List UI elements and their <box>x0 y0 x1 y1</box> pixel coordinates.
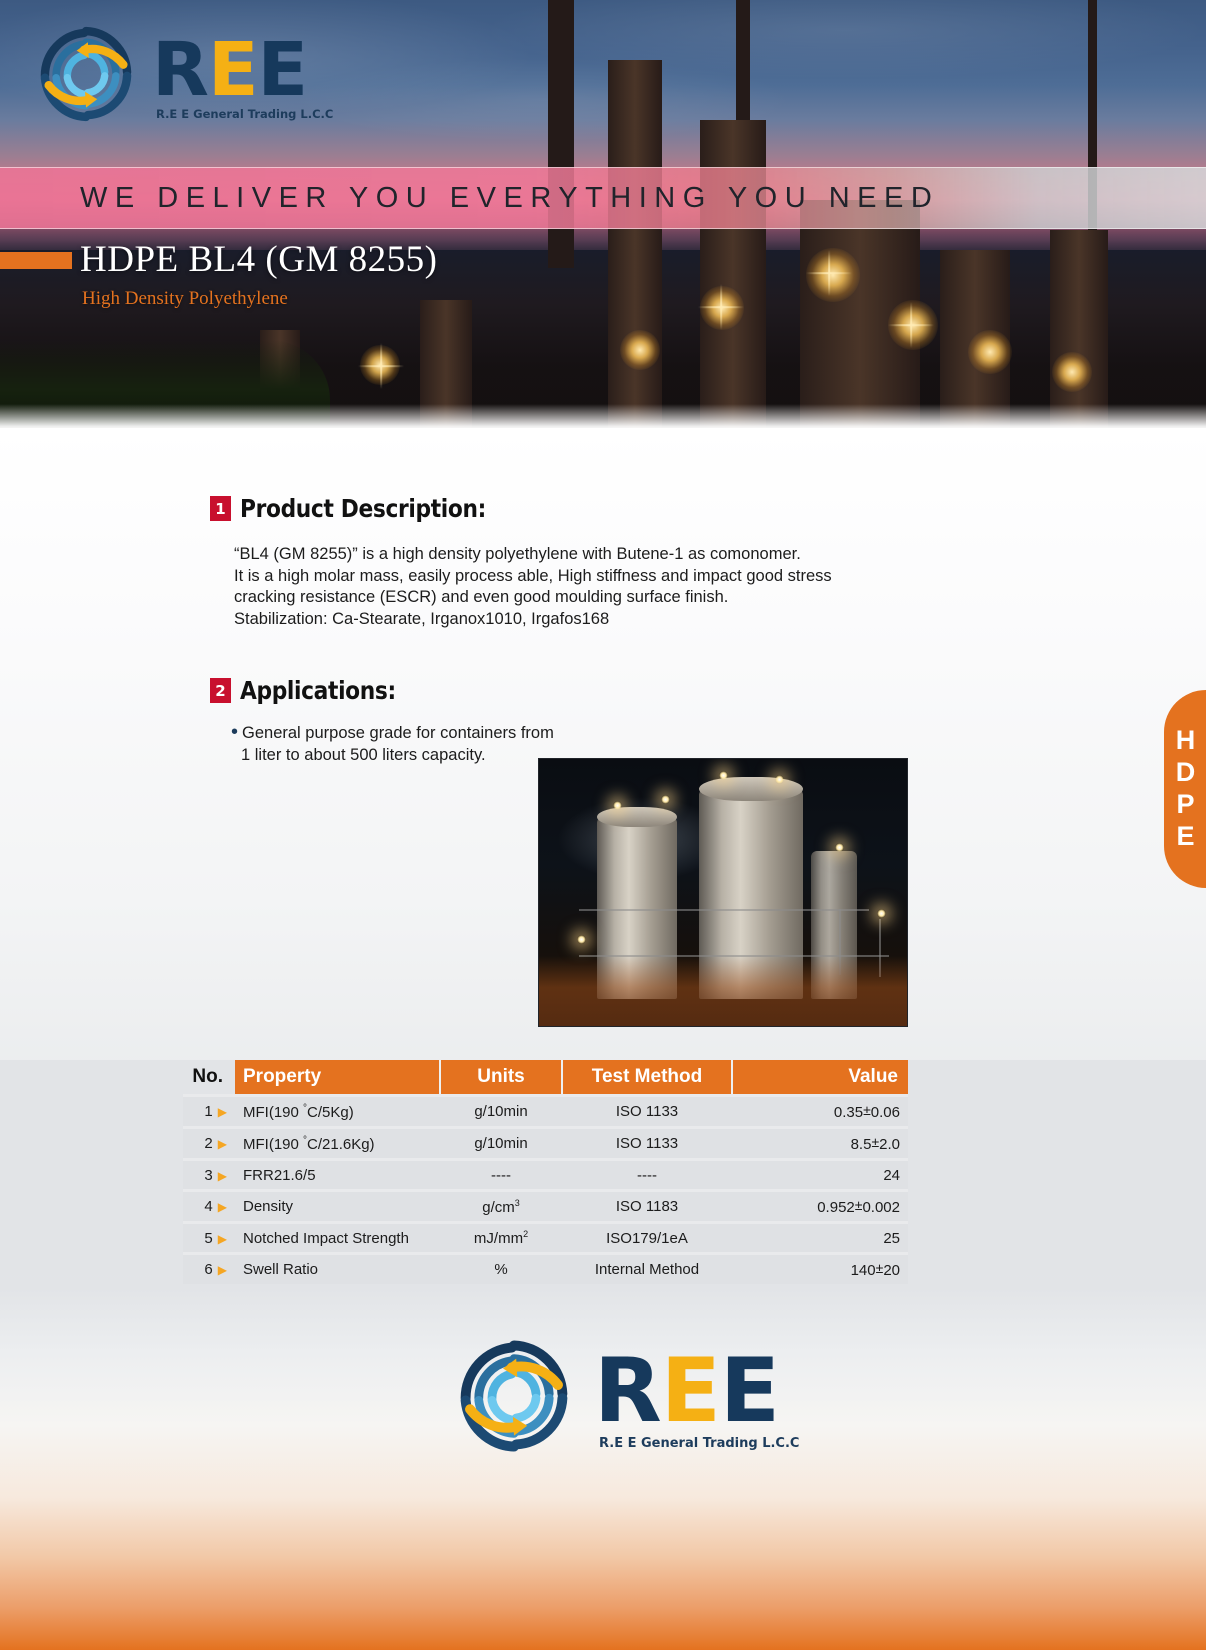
light-glow <box>806 248 860 302</box>
flood-light <box>613 801 622 810</box>
section-number-badge: 1 <box>210 496 231 521</box>
brand-tagline: R.E E General Trading L.C.C <box>599 1437 799 1450</box>
table-header-row: No. Property Units Test Method Value <box>183 1060 908 1094</box>
cell-units: mJ/mm2 <box>440 1224 562 1252</box>
flood-light <box>661 795 670 804</box>
brand-letter-r: R <box>152 33 208 107</box>
description-line: “BL4 (GM 8255)” is a high density polyet… <box>234 544 954 566</box>
cell-test-method: ISO 1183 <box>562 1192 732 1221</box>
list-item-label: General purpose grade for containers fro… <box>242 723 554 745</box>
tagline-text: WE DELIVER YOU EVERYTHING YOU NEED <box>0 182 939 215</box>
cell-property: Density <box>235 1192 440 1221</box>
description-line: cracking resistance (ESCR) and even good… <box>234 587 954 609</box>
cell-property: Swell Ratio <box>235 1255 440 1284</box>
tagline-banner: WE DELIVER YOU EVERYTHING YOU NEED <box>0 167 1206 229</box>
cell-units: g/10min <box>440 1097 562 1126</box>
row-marker-icon: ▶ <box>218 1105 227 1119</box>
cell-value: 140±20 <box>732 1255 908 1284</box>
brand-logo-header[interactable]: R E E R.E E General Trading L.C.C <box>30 18 333 135</box>
cell-no: 6▶ <box>183 1255 235 1284</box>
ree-swirl-icon <box>30 18 142 135</box>
flood-light <box>577 935 586 944</box>
flood-light <box>719 771 728 780</box>
brand-letter-e1: E <box>661 1347 720 1435</box>
cell-value: 0.952±0.002 <box>732 1192 908 1221</box>
description-line: Stabilization: Ca-Stearate, Irganox1010,… <box>234 609 954 631</box>
row-marker-icon: ▶ <box>218 1200 227 1214</box>
table-row: 6▶Swell Ratio%Internal Method140±20 <box>183 1255 908 1284</box>
brand-wordmark: R E E R.E E General Trading L.C.C <box>152 33 333 121</box>
cell-property: FRR21.6/5 <box>235 1161 440 1189</box>
tank-top <box>699 777 803 801</box>
lens-flare <box>910 324 912 326</box>
side-tab-hdpe[interactable]: HDPE <box>1164 690 1206 888</box>
brand-letter-r: R <box>594 1347 661 1435</box>
section-number-badge: 2 <box>210 678 231 703</box>
spec-table: No. Property Units Test Method Value 1▶M… <box>183 1060 908 1284</box>
section-heading-product-description: 1 Product Description: <box>210 494 523 523</box>
cell-test-method: ---- <box>562 1161 732 1189</box>
table-row: 2▶MFI(190 °C/21.6Kg)g/10minISO 11338.5±2… <box>183 1129 908 1158</box>
cell-value: 25 <box>732 1224 908 1252</box>
table-row: 4▶Densityg/cm3ISO 11830.952±0.002 <box>183 1192 908 1221</box>
section-title: Product Description: <box>240 494 486 523</box>
light-glow <box>968 330 1012 374</box>
cell-value: 0.35±0.06 <box>732 1097 908 1126</box>
title-accent-bar <box>0 252 72 269</box>
table-row: 1▶MFI(190 °C/5Kg)g/10minISO 11330.35±0.0… <box>183 1097 908 1126</box>
column-header-test-method: Test Method <box>562 1060 732 1094</box>
brand-letter-e2: E <box>720 1347 779 1435</box>
table-row: 3▶FRR21.6/5--------24 <box>183 1161 908 1189</box>
side-tab-label: HDPE <box>1170 725 1201 853</box>
brand-tagline: R.E E General Trading L.C.C <box>156 109 333 121</box>
lens-flare <box>380 365 382 367</box>
catwalk-rail <box>579 909 869 911</box>
list-item: • General purpose grade for containers f… <box>231 723 651 745</box>
flood-light <box>877 909 886 918</box>
lens-flare <box>828 272 830 274</box>
cell-no: 5▶ <box>183 1224 235 1252</box>
row-marker-icon: ▶ <box>218 1137 227 1151</box>
hero-bottom-fade <box>0 404 1206 430</box>
cell-test-method: ISO 1133 <box>562 1129 732 1158</box>
brand-letter-e2: E <box>258 33 308 107</box>
cell-no: 1▶ <box>183 1097 235 1126</box>
brand-logo-footer[interactable]: R E E R.E E General Trading L.C.C <box>448 1330 799 1467</box>
table-row: 5▶Notched Impact StrengthmJ/mm2ISO179/1e… <box>183 1224 908 1252</box>
refinery-tower <box>1050 230 1108 428</box>
page-subtitle: High Density Polyethylene <box>82 288 288 310</box>
row-marker-icon: ▶ <box>218 1232 227 1246</box>
row-marker-icon: ▶ <box>218 1169 227 1183</box>
refinery-tower <box>608 60 662 428</box>
flood-light <box>775 775 784 784</box>
cell-property: MFI(190 °C/21.6Kg) <box>235 1129 440 1158</box>
lens-flare <box>720 306 722 308</box>
light-glow <box>1052 352 1092 392</box>
cell-no: 3▶ <box>183 1161 235 1189</box>
bullet-icon: • <box>231 723 238 741</box>
product-description-text: “BL4 (GM 8255)” is a high density polyet… <box>234 544 954 630</box>
cell-units: % <box>440 1255 562 1284</box>
column-header-property: Property <box>235 1060 440 1094</box>
tank-top <box>597 807 677 827</box>
cell-test-method: ISO179/1eA <box>562 1224 732 1252</box>
brand-wordmark: R E E R.E E General Trading L.C.C <box>594 1347 799 1450</box>
page-title: HDPE BL4 (GM 8255) <box>80 238 437 281</box>
cell-units: g/cm3 <box>440 1192 562 1221</box>
cell-units: ---- <box>440 1161 562 1189</box>
cell-test-method: Internal Method <box>562 1255 732 1284</box>
cell-units: g/10min <box>440 1129 562 1158</box>
light-glow <box>700 286 744 330</box>
section-heading-applications: 2 Applications: <box>210 676 419 705</box>
cell-property: Notched Impact Strength <box>235 1224 440 1252</box>
cell-value: 8.5±2.0 <box>732 1129 908 1158</box>
cell-no: 4▶ <box>183 1192 235 1221</box>
section-title: Applications: <box>240 676 396 705</box>
column-header-value: Value <box>732 1060 908 1094</box>
application-photo <box>538 758 908 1027</box>
cell-no: 2▶ <box>183 1129 235 1158</box>
flood-light <box>835 843 844 852</box>
ground-glow <box>539 956 907 1026</box>
light-glow <box>620 330 660 370</box>
brand-letter-e1: E <box>208 33 258 107</box>
cell-test-method: ISO 1133 <box>562 1097 732 1126</box>
column-header-units: Units <box>440 1060 562 1094</box>
cell-property: MFI(190 °C/5Kg) <box>235 1097 440 1126</box>
row-marker-icon: ▶ <box>218 1263 227 1277</box>
column-header-no: No. <box>183 1060 235 1094</box>
cell-value: 24 <box>732 1161 908 1189</box>
ree-swirl-icon <box>448 1330 580 1467</box>
description-line: It is a high molar mass, easily process … <box>234 566 954 588</box>
